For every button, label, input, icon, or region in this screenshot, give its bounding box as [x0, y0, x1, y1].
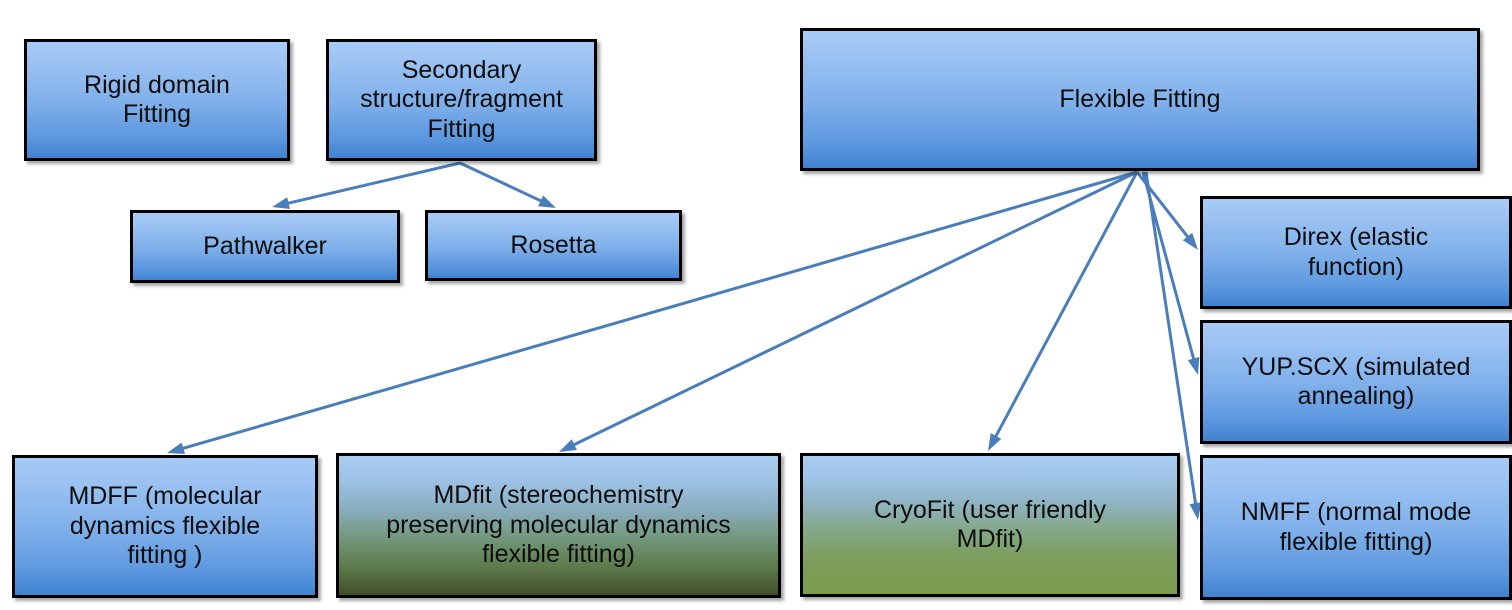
node-mdfit[interactable]: MDfit (stereochemistry preserving molecu… — [336, 453, 781, 598]
arrowhead-icon — [167, 443, 185, 455]
node-nmff[interactable]: NMFF (normal mode flexible fitting) — [1200, 455, 1512, 600]
node-cryofit[interactable]: CryoFit (user friendly MDfit) — [800, 453, 1180, 597]
arrowhead-icon — [272, 197, 290, 209]
edge-flexible-to-cryofit — [988, 172, 1137, 451]
node-label-pathwalker: Pathwalker — [195, 232, 335, 262]
node-label-secondary-structure-fitting: Secondary structure/fragment Fitting — [352, 56, 571, 145]
arrowhead-icon — [559, 439, 577, 452]
edge-secondary-to-rosetta — [460, 163, 556, 208]
node-label-mdfit: MDfit (stereochemistry preserving molecu… — [378, 481, 739, 570]
node-mdff[interactable]: MDFF (molecular dynamics flexible fittin… — [12, 455, 318, 598]
node-flexible-fitting[interactable]: Flexible Fitting — [800, 28, 1480, 171]
arrowhead-icon — [1188, 357, 1200, 375]
edge-flexible-to-yupscx — [1143, 172, 1199, 375]
node-label-direx: Direx (elastic function) — [1276, 223, 1436, 282]
node-label-yup-scx: YUP.SCX (simulated annealing) — [1234, 353, 1479, 412]
node-rosetta[interactable]: Rosetta — [425, 210, 682, 281]
node-yup-scx[interactable]: YUP.SCX (simulated annealing) — [1200, 320, 1512, 444]
node-label-rosetta: Rosetta — [502, 231, 604, 261]
diagram-canvas: Rigid domain FittingSecondary structure/… — [0, 0, 1512, 610]
node-rigid-domain-fitting[interactable]: Rigid domain Fitting — [24, 39, 290, 161]
edge-line — [995, 172, 1137, 439]
node-label-mdff: MDFF (molecular dynamics flexible fittin… — [60, 482, 269, 571]
arrowhead-icon — [538, 195, 556, 208]
node-label-nmff: NMFF (normal mode flexible fitting) — [1233, 498, 1480, 557]
edge-line — [286, 163, 460, 204]
edge-flexible-to-direx — [1137, 172, 1198, 250]
edge-line — [460, 163, 543, 202]
node-pathwalker[interactable]: Pathwalker — [130, 210, 400, 283]
edge-line — [1143, 172, 1194, 361]
node-label-flexible-fitting: Flexible Fitting — [1051, 85, 1228, 115]
edge-line — [1137, 172, 1189, 239]
arrowhead-icon — [988, 433, 1001, 451]
node-label-rigid-domain-fitting: Rigid domain Fitting — [76, 71, 238, 130]
node-direx[interactable]: Direx (elastic function) — [1200, 196, 1512, 309]
node-secondary-structure-fitting[interactable]: Secondary structure/fragment Fitting — [326, 39, 597, 161]
edge-secondary-to-pathwalker — [272, 163, 460, 209]
node-label-cryofit: CryoFit (user friendly MDfit) — [866, 496, 1114, 555]
arrowhead-icon — [1183, 233, 1198, 250]
